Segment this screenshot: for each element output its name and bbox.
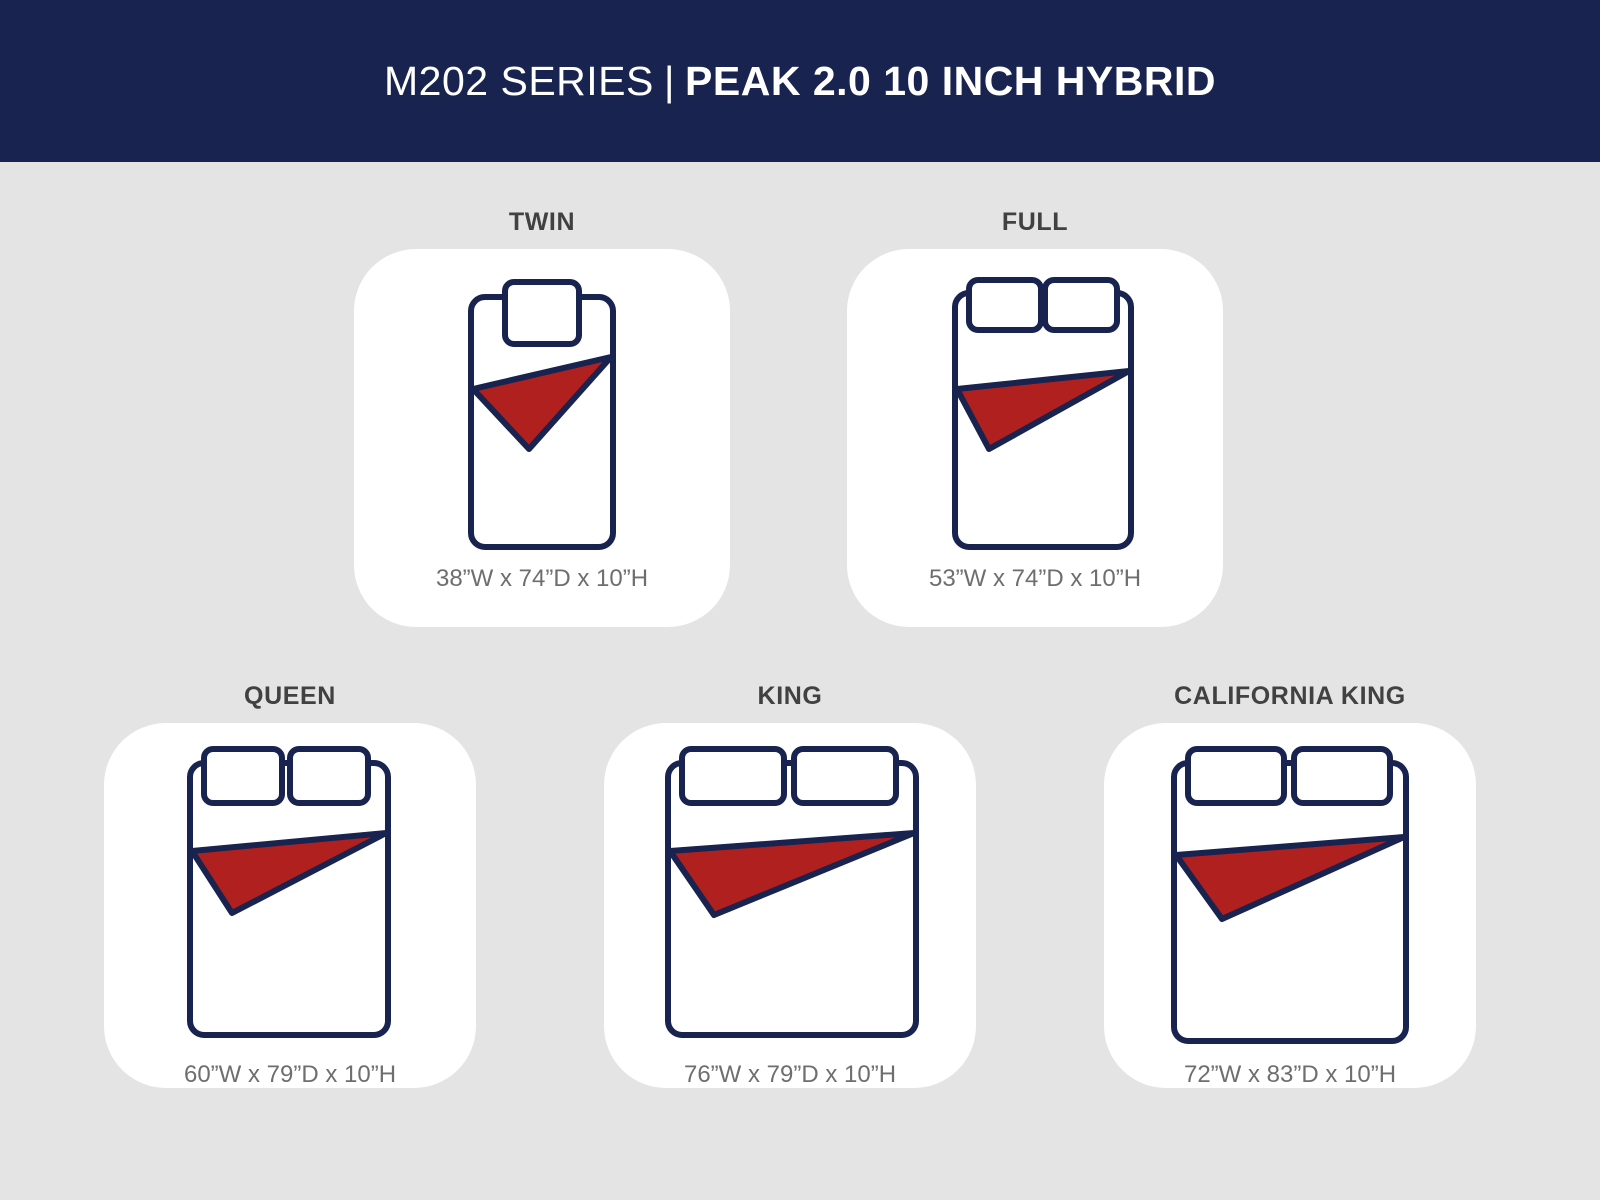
size-dims-full: 53”W x 74”D x 10”H [847,565,1223,593]
bed-king-icon [604,723,976,1053]
bed-full-icon [847,249,1223,565]
size-cell-full[interactable]: FULL 53”W x 74”D x 10”H [825,208,1245,627]
size-label-king: KING [758,682,823,711]
size-cell-california-king[interactable]: CALIFORNIA KING 72”W x 83”D x 10”H [1080,682,1500,1088]
size-cell-twin[interactable]: TWIN 38”W x 74”D x 10”H [332,208,752,627]
size-dims-king: 76”W x 79”D x 10”H [604,1061,976,1089]
mattress-size-grid: TWIN 38”W x 74”D x 10”H FULL 53”W x 74”D [0,162,1600,1200]
size-label-full: FULL [1002,208,1068,237]
size-label-twin: TWIN [509,208,575,237]
size-dims-california-king: 72”W x 83”D x 10”H [1104,1061,1476,1089]
size-card-california-king[interactable]: 72”W x 83”D x 10”H [1104,723,1476,1088]
page-title: M202 SERIES | PEAK 2.0 10 INCH HYBRID [384,58,1216,105]
size-label-queen: QUEEN [244,682,336,711]
header-series-text: M202 SERIES [384,58,654,105]
header-bar: M202 SERIES | PEAK 2.0 10 INCH HYBRID [0,0,1600,162]
bed-twin-icon [354,249,730,565]
size-cell-queen[interactable]: QUEEN 60”W x 79”D x 10”H [80,682,500,1088]
size-card-king[interactable]: 76”W x 79”D x 10”H [604,723,976,1088]
size-dims-queen: 60”W x 79”D x 10”H [104,1061,476,1089]
size-card-full[interactable]: 53”W x 74”D x 10”H [847,249,1223,627]
header-model-text: PEAK 2.0 10 INCH HYBRID [685,58,1216,105]
size-label-california-king: CALIFORNIA KING [1174,682,1406,711]
header-separator: | [654,58,685,105]
size-card-queen[interactable]: 60”W x 79”D x 10”H [104,723,476,1088]
bed-queen-icon [104,723,476,1053]
size-cell-king[interactable]: KING 76”W x 79”D x 10”H [580,682,1000,1088]
size-card-twin[interactable]: 38”W x 74”D x 10”H [354,249,730,627]
bed-california-king-icon [1104,723,1476,1053]
size-dims-twin: 38”W x 74”D x 10”H [354,565,730,593]
